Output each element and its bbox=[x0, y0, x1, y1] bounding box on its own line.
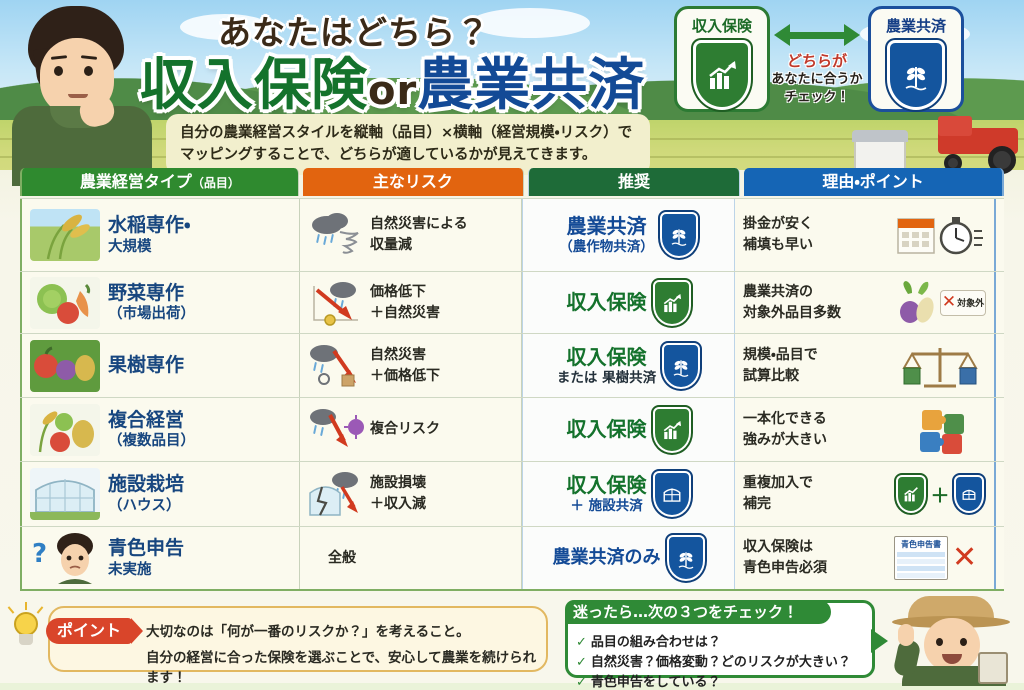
fruit-trees-icon bbox=[30, 340, 100, 392]
shield-growth-chart-icon bbox=[896, 475, 926, 513]
excluded-tag: 対象外 bbox=[957, 296, 984, 309]
cell-risk: 施設損壊＋収入減 bbox=[300, 462, 522, 526]
tax-form-label: 青色申告書 bbox=[897, 539, 945, 550]
risk-text: 複合リスク bbox=[370, 419, 440, 440]
intro-line-2: マッピングすることで、どちらが適しているかが見えてきます。 bbox=[180, 144, 636, 166]
cell-recommend: 収入保険 または 果樹共済 bbox=[522, 334, 735, 397]
farmer-pointing-illustration bbox=[894, 596, 1014, 683]
cell-recommend: 農業共済のみ bbox=[522, 527, 735, 589]
shield-rice-ear-icon bbox=[667, 535, 705, 581]
comparison-table: 農業経営タイプ（品目） 主なリスク 推奨 理由・ポイント bbox=[20, 168, 1004, 591]
cell-reason: 農業共済の対象外品目多数 ✕ 対象外 bbox=[735, 272, 996, 333]
column-header-type: 農業経営タイプ（品目） bbox=[20, 168, 299, 196]
cell-recommend: 収入保険 bbox=[522, 398, 735, 461]
table-row[interactable]: 複合経営（複数品目） bbox=[20, 398, 1004, 462]
greenhouse-icon bbox=[30, 468, 100, 520]
barn-icon bbox=[854, 138, 906, 172]
infographic-root: あなたはどちら？ 収入保険or農業共済 自分の農業経営スタイルを縦軸（品目）×横… bbox=[0, 0, 1024, 683]
cell-risk: 価格低下＋自然災害 bbox=[300, 272, 522, 333]
cell-reason: 掛金が安く補填も早い bbox=[735, 199, 996, 271]
cell-reason: 一本化できる強みが大きい bbox=[735, 398, 996, 461]
shield-growth-chart-icon bbox=[653, 407, 691, 453]
reason-text: 農業共済の対象外品目多数 bbox=[743, 282, 894, 324]
recommend-sub: ＋ 施設共済 bbox=[567, 498, 647, 515]
table-body: 水稲専作・大規模 自然災害による収量減 bbox=[20, 198, 1004, 591]
compare-arrow-group: どちらが あなたに合うか チェック！ bbox=[770, 24, 864, 106]
tractor-icon bbox=[914, 118, 1024, 174]
type-title: 水稲専作・大規模 bbox=[108, 214, 190, 256]
cell-type: 果樹専作 bbox=[20, 334, 300, 397]
greenhouse-damage-icon bbox=[308, 471, 364, 517]
intro-box: 自分の農業経営スタイルを縦軸（品目）×横軸（経営規模・リスク）で マッピングする… bbox=[166, 114, 650, 175]
checklist-item[interactable]: ✓品目の組み合わせは？ bbox=[576, 631, 721, 650]
headline-right: 農業共済 bbox=[417, 53, 645, 118]
column-header-recommend: 推奨 bbox=[528, 168, 740, 196]
rice-paddy-icon bbox=[30, 209, 100, 261]
cell-type: 水稲専作・大規模 bbox=[20, 199, 300, 271]
checklist-item[interactable]: ✓自然災害？価格変動？どのリスクが大きい？ bbox=[576, 651, 851, 670]
table-row[interactable]: 水稲専作・大規模 自然災害による収量減 bbox=[20, 198, 1004, 272]
vegetables-excluded-icon: ✕ 対象外 bbox=[894, 279, 986, 327]
intro-line-1: 自分の農業経営スタイルを縦軸（品目）×横軸（経営規模・リスク）で bbox=[180, 122, 636, 144]
shield-rice-ear-icon bbox=[662, 343, 700, 389]
cell-reason: 重複加入で補完 ＋ bbox=[735, 462, 996, 526]
question-person-icon: ? bbox=[30, 532, 100, 584]
cell-risk: 複合リスク bbox=[300, 398, 522, 461]
checklist-item[interactable]: ✓青色申告をしている？ bbox=[576, 671, 721, 690]
arrow-text-3: チェック！ bbox=[770, 89, 864, 107]
recommend-main: 農業共済 bbox=[559, 214, 654, 239]
cross-icon: ✕ bbox=[952, 543, 977, 573]
badge-income-insurance-label: 収入保険 bbox=[677, 15, 767, 36]
price-drop-arrow-icon bbox=[308, 280, 364, 326]
recommend-main: 収入保険 bbox=[567, 290, 647, 315]
column-header-risk: 主なリスク bbox=[303, 168, 524, 196]
cell-risk: 全般 bbox=[300, 527, 522, 589]
type-title: 複合経営（複数品目） bbox=[108, 409, 195, 451]
arrow-text-2: あなたに合うか bbox=[770, 71, 864, 89]
type-title: 青色申告未実施 bbox=[108, 537, 184, 579]
recommend-main: 収入保険 bbox=[567, 417, 647, 442]
check-icon: ✓ bbox=[576, 635, 587, 650]
cell-recommend: 収入保険 ＋ 施設共済 bbox=[522, 462, 735, 526]
checklist-box: 迷ったら…次の３つをチェック！ ✓品目の組み合わせは？ ✓自然災害？価格変動？ど… bbox=[565, 600, 875, 678]
headline-main: 収入保険or農業共済 bbox=[140, 40, 700, 121]
type-title: 施設栽培（ハウス） bbox=[108, 473, 184, 515]
shield-rice-ear-icon bbox=[660, 212, 698, 258]
cell-recommend: 農業共済 （農作物共済） bbox=[522, 199, 735, 271]
cell-type: 野菜専作（市場出荷） bbox=[20, 272, 300, 333]
badge-agricultural-mutual-aid-label: 農業共済 bbox=[871, 15, 961, 36]
cell-reason: 規模・品目で試算比較 bbox=[735, 334, 996, 397]
table-row[interactable]: 施設栽培（ハウス） bbox=[20, 462, 1004, 527]
badge-agricultural-mutual-aid[interactable]: 農業共済 bbox=[868, 6, 964, 112]
badge-income-insurance[interactable]: 収入保険 bbox=[674, 6, 770, 112]
type-title: 野菜専作（市場出荷） bbox=[108, 282, 195, 324]
reason-text: 重複加入で補完 bbox=[743, 473, 894, 515]
recommend-sub: （農作物共済） bbox=[559, 239, 654, 256]
cell-risk: 自然災害＋価格低下 bbox=[300, 334, 522, 397]
table-header-row: 農業経営タイプ（品目） 主なリスク 推奨 理由・ポイント bbox=[20, 168, 1004, 196]
cell-type: ? 青色申告未実施 bbox=[20, 527, 300, 589]
multi-risk-virus-icon bbox=[308, 407, 364, 453]
reason-text: 一本化できる強みが大きい bbox=[743, 409, 894, 451]
reason-text: 規模・品目で試算比較 bbox=[743, 345, 894, 387]
calendar-stopwatch-icon bbox=[894, 211, 986, 259]
arrow-text-1: どちらが bbox=[770, 50, 864, 71]
balance-scale-calculator-icon bbox=[894, 342, 986, 390]
column-header-reason: 理由・ポイント bbox=[744, 168, 1004, 196]
point-line-2: 自分の経営に合った保険を選ぶことで、安心して農業を続けられます！ bbox=[146, 646, 546, 686]
cell-recommend: 収入保険 bbox=[522, 272, 735, 333]
risk-text: 施設損壊＋収入減 bbox=[370, 473, 426, 515]
plus-icon: ＋ bbox=[930, 481, 949, 508]
lightbulb-icon bbox=[8, 604, 44, 652]
farmer-illustration bbox=[6, 0, 156, 180]
double-arrow-icon bbox=[774, 24, 860, 46]
shield-growth-chart-icon bbox=[693, 40, 751, 110]
mixed-crops-icon bbox=[30, 404, 100, 456]
type-title: 果樹専作 bbox=[108, 354, 184, 378]
risk-text: 全般 bbox=[328, 548, 356, 569]
svg-text:?: ? bbox=[32, 539, 47, 569]
shield-greenhouse-icon bbox=[954, 475, 984, 513]
checklist-title: 迷ったら…次の３つをチェック！ bbox=[565, 600, 831, 624]
disaster-price-drop-icon bbox=[308, 343, 364, 389]
recommend-main: 収入保険 bbox=[557, 345, 656, 370]
headline-or: or bbox=[368, 68, 417, 114]
cell-reason: 収入保険は青色申告必須 青色申告書 ✕ bbox=[735, 527, 996, 589]
cell-type: 施設栽培（ハウス） bbox=[20, 462, 300, 526]
recommend-main: 収入保険 bbox=[567, 473, 647, 498]
check-icon: ✓ bbox=[576, 655, 587, 670]
two-shields-plus-icon: ＋ bbox=[894, 470, 986, 518]
point-badge: ポイント bbox=[46, 618, 132, 644]
risk-text: 自然災害＋価格低下 bbox=[370, 345, 440, 387]
headline-left: 収入保険 bbox=[140, 53, 368, 118]
shield-rice-ear-icon bbox=[887, 40, 945, 110]
recommend-main: 農業共済のみ bbox=[553, 547, 661, 570]
shield-growth-chart-icon bbox=[653, 280, 691, 326]
point-box: ポイント 大切なのは「何が一番のリスクか？」を考えること。 自分の経営に合った保… bbox=[48, 606, 548, 672]
table-row[interactable]: 果樹専作 bbox=[20, 334, 1004, 398]
recommend-sub: または 果樹共済 bbox=[557, 370, 656, 387]
storm-cloud-tornado-icon bbox=[308, 212, 364, 258]
risk-text: 価格低下＋自然災害 bbox=[370, 282, 440, 324]
puzzle-pieces-icon bbox=[894, 406, 986, 454]
cell-type: 複合経営（複数品目） bbox=[20, 398, 300, 461]
table-row[interactable]: 野菜専作（市場出荷） bbox=[20, 272, 1004, 334]
vegetables-icon bbox=[30, 277, 100, 329]
cell-risk: 自然災害による収量減 bbox=[300, 199, 522, 271]
risk-text: 自然災害による収量減 bbox=[370, 214, 468, 256]
shield-greenhouse-icon bbox=[653, 471, 691, 517]
reason-text: 掛金が安く補填も早い bbox=[743, 214, 894, 256]
reason-text: 収入保険は青色申告必須 bbox=[743, 537, 894, 579]
table-row[interactable]: ? 青色申告未実施 全般 bbox=[20, 527, 1004, 591]
point-line-1: 大切なのは「何が一番のリスクか？」を考えること。 bbox=[146, 620, 470, 640]
blue-tax-form-cross-icon: 青色申告書 ✕ bbox=[894, 534, 986, 582]
